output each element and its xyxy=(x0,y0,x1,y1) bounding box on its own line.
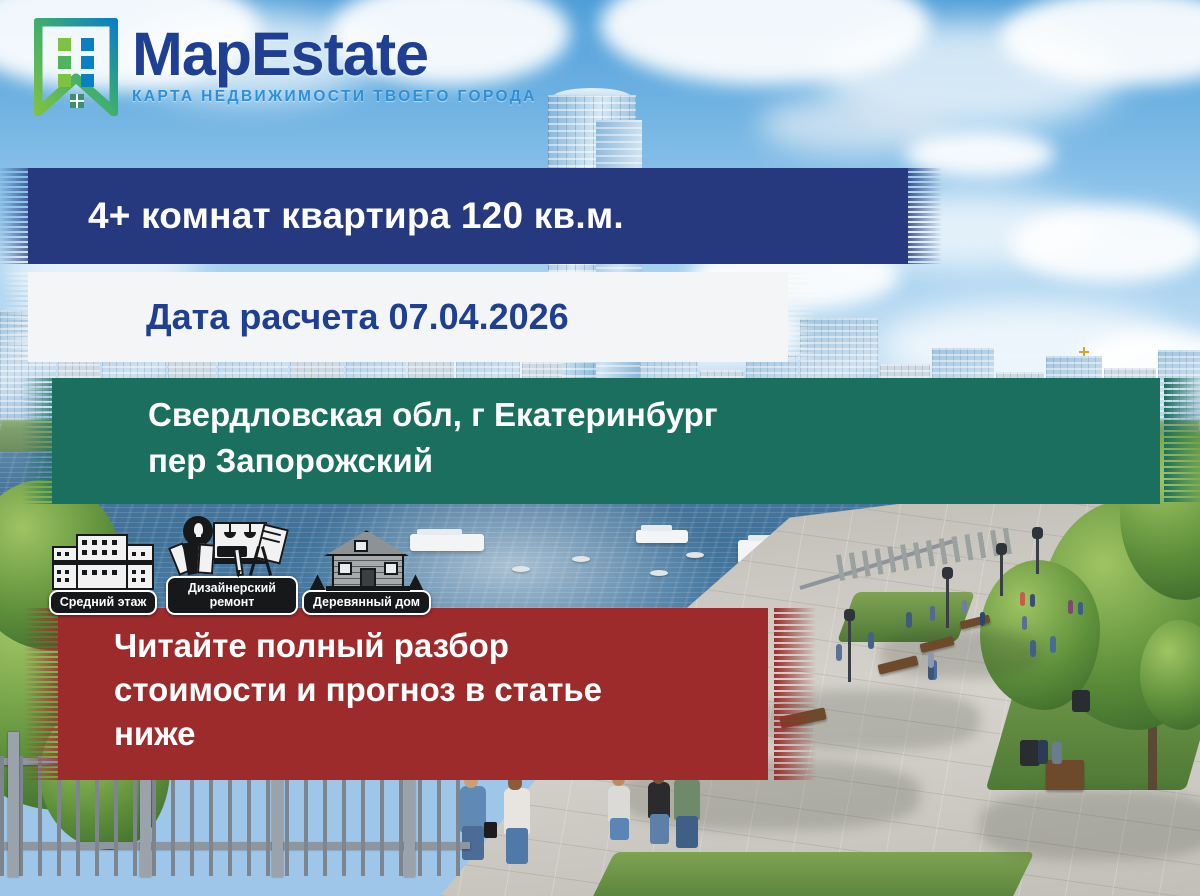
badge-label: Деревянный дом xyxy=(302,590,431,614)
address-banner-text: Свердловская обл, г Екатеринбург пер Зап… xyxy=(52,378,718,483)
cta-line-1: Читайте полный разбор xyxy=(114,624,602,668)
pedestrian xyxy=(928,652,934,668)
street-lamp xyxy=(946,576,949,628)
rooms-banner-text: 4+ комнат квартира 120 кв.м. xyxy=(28,195,624,237)
interior-design-icon xyxy=(173,516,291,578)
pedestrian xyxy=(1038,740,1048,764)
trash-bin xyxy=(1072,690,1090,712)
badge-wooden-house: Деревянный дом xyxy=(302,530,431,614)
tree-shadow xyxy=(880,630,1040,678)
pedestrian xyxy=(906,612,912,628)
brand-tagline: КАРТА НЕДВИЖИМОСТИ ТВОЕГО ГОРОДА xyxy=(132,88,537,106)
pleasure-boat xyxy=(636,530,688,543)
trash-bin xyxy=(1020,740,1040,766)
badge-middle-floor: Средний этаж xyxy=(44,530,162,614)
address-line-2: пер Запорожский xyxy=(148,438,718,484)
promo-poster: MapEstate КАРТА НЕДВИЖИМОСТИ ТВОЕГО ГОРО… xyxy=(0,0,1200,896)
small-boat xyxy=(572,556,590,562)
bookmark-building-icon xyxy=(34,18,118,116)
brand-name: MapEstate xyxy=(132,26,537,84)
date-banner-text: Дата расчета 07.04.2026 xyxy=(28,296,569,338)
feature-badges: Средний этаж xyxy=(44,516,431,615)
small-boat xyxy=(686,552,704,558)
lawn xyxy=(585,852,1034,896)
pedestrian xyxy=(1020,592,1025,606)
cta-banner-text: Читайте полный разбор стоимости и прогно… xyxy=(58,608,602,756)
pedestrian xyxy=(1052,742,1062,764)
brand-wordmark: MapEstate КАРТА НЕДВИЖИМОСТИ ТВОЕГО ГОРО… xyxy=(132,18,537,106)
pedestrian xyxy=(1078,602,1083,615)
pedestrian xyxy=(1068,600,1073,614)
pedestrian xyxy=(1022,616,1027,630)
park-bench xyxy=(1046,760,1084,790)
pedestrian xyxy=(1030,640,1036,657)
date-banner: Дата расчета 07.04.2026 xyxy=(28,272,788,362)
address-banner: Свердловская обл, г Екатеринбург пер Зап… xyxy=(52,378,1160,504)
cta-line-3: ниже xyxy=(114,712,602,756)
badge-designer-renovation: Дизайнерский ремонт xyxy=(166,516,298,615)
badge-label: Дизайнерский ремонт xyxy=(166,576,298,615)
cta-line-2: стоимости и прогноз в статье xyxy=(114,668,602,712)
street-lamp xyxy=(1036,536,1039,574)
pedestrian xyxy=(868,632,874,649)
tree-shadow xyxy=(980,790,1200,860)
brand-logo[interactable]: MapEstate КАРТА НЕДВИЖИМОСТИ ТВОЕГО ГОРО… xyxy=(34,18,537,116)
cta-banner: Читайте полный разбор стоимости и прогно… xyxy=(58,608,768,780)
pedestrian xyxy=(1050,636,1056,653)
badge-label: Средний этаж xyxy=(49,590,158,614)
pedestrian xyxy=(962,600,967,613)
rooms-banner: 4+ комнат квартира 120 кв.м. xyxy=(28,168,908,264)
pedestrian xyxy=(930,606,935,621)
pedestrian xyxy=(836,644,842,661)
brand-name-part2: Estate xyxy=(251,20,428,88)
apartment-building-icon xyxy=(44,530,162,592)
street-lamp xyxy=(1000,552,1003,596)
pedestrian xyxy=(980,612,985,626)
small-boat xyxy=(512,566,530,572)
pedestrian xyxy=(1030,594,1035,607)
street-lamp xyxy=(848,618,851,682)
address-line-1: Свердловская обл, г Екатеринбург xyxy=(148,392,718,438)
cloud xyxy=(1010,205,1200,283)
brand-name-part1: Map xyxy=(132,20,251,88)
small-boat xyxy=(650,570,668,576)
wooden-house-icon xyxy=(308,530,426,592)
